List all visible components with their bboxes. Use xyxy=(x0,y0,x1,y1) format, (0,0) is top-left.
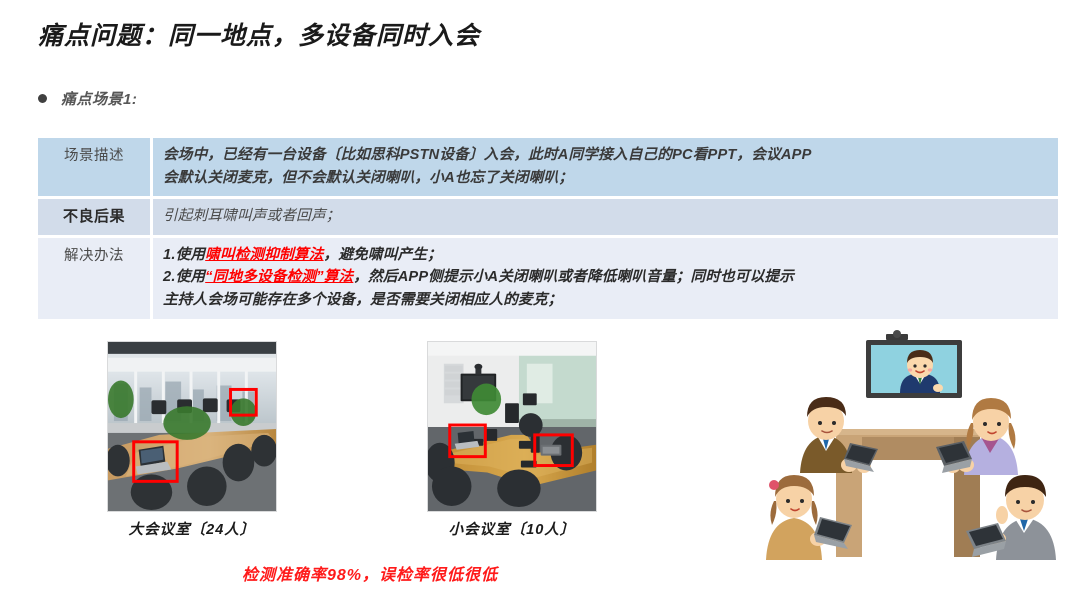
bullet-scenario-1: 痛点场景1: xyxy=(38,88,137,109)
bullet-dot-icon xyxy=(38,94,47,103)
row-label-bad-consequence: 不良后果 xyxy=(38,199,150,235)
video-conference-illustration xyxy=(748,325,1068,560)
bullet-label: 痛点场景1: xyxy=(61,88,137,109)
photo-large-meeting-room xyxy=(107,341,277,512)
solution-item-2: 2.使用“同地多设备检测”算法，然后APP侧提示小A关闭喇叭或者降低喇叭音量；同… xyxy=(163,266,1048,289)
solution-item-1: 1.使用啸叫检测抑制算法，避免啸叫产生； xyxy=(163,244,1048,267)
solution-1-suffix: ，避免啸叫产生； xyxy=(324,247,442,263)
caption-small-meeting-room: 小会议室〔10人〕 xyxy=(427,518,597,539)
accuracy-footnote: 检测准确率98%，误检率很低很低 xyxy=(0,561,740,585)
solution-2-prefix: 2.使用 xyxy=(163,269,205,285)
row-body-bad-consequence: 引起刺耳啸叫声或者回声； xyxy=(153,199,1058,235)
row-body-scenario-description: 会场中，已经有一台设备〔比如思科PSTN设备〕入会，此时A同学接入自己的PC看P… xyxy=(153,138,1058,196)
participant-front-left xyxy=(766,475,839,560)
table-row-scenario-description: 场景描述 会场中，已经有一台设备〔比如思科PSTN设备〕入会，此时A同学接入自己… xyxy=(38,138,1058,196)
scenario-line-1: 会场中，已经有一台设备〔比如思科PSTN设备〕入会，此时A同学接入自己的PC看P… xyxy=(163,144,1048,167)
large-room-photo-graphic xyxy=(108,342,276,511)
solution-item-2-line-2: 主持人会场可能存在多个设备，是否需要关闭相应人的麦克； xyxy=(163,289,1048,312)
scenario-line-2: 会默认关闭麦克，但不会默认关闭喇叭，小A也忘了关闭喇叭； xyxy=(163,167,1048,190)
solution-1-prefix: 1.使用 xyxy=(163,247,205,263)
solution-2-suffix: ，然后APP侧提示小A关闭喇叭或者降低喇叭音量；同时也可以提示 xyxy=(353,269,794,285)
table-row-solution: 解决办法 1.使用啸叫检测抑制算法，避免啸叫产生； 2.使用“同地多设备检测”算… xyxy=(38,238,1058,319)
solution-1-algorithm-link[interactable]: 啸叫检测抑制算法 xyxy=(205,247,323,263)
row-body-solution: 1.使用啸叫检测抑制算法，避免啸叫产生； 2.使用“同地多设备检测”算法，然后A… xyxy=(153,238,1058,319)
laptop-device-right xyxy=(541,445,562,456)
photo-small-meeting-room xyxy=(427,341,597,512)
caption-large-meeting-room: 大会议室〔24人〕 xyxy=(107,518,277,539)
table-row-bad-consequence: 不良后果 引起刺耳啸叫声或者回声； xyxy=(38,199,1058,235)
solution-2-algorithm-link[interactable]: “同地多设备检测”算法 xyxy=(205,269,353,285)
conference-illustration-graphic xyxy=(748,325,1068,560)
slide-canvas: 痛点问题：同一地点，多设备同时入会 痛点场景1: 场景描述 会场中，已经有一台设… xyxy=(0,0,1080,608)
row-label-scenario-description: 场景描述 xyxy=(38,138,150,196)
page-title: 痛点问题：同一地点，多设备同时入会 xyxy=(38,16,480,52)
small-room-photo-graphic xyxy=(428,342,596,511)
row-label-solution: 解决办法 xyxy=(38,238,150,319)
wall-display-icon xyxy=(866,330,962,398)
scenario-table: 场景描述 会场中，已经有一台设备〔比如思科PSTN设备〕入会，此时A同学接入自己… xyxy=(38,138,1058,319)
